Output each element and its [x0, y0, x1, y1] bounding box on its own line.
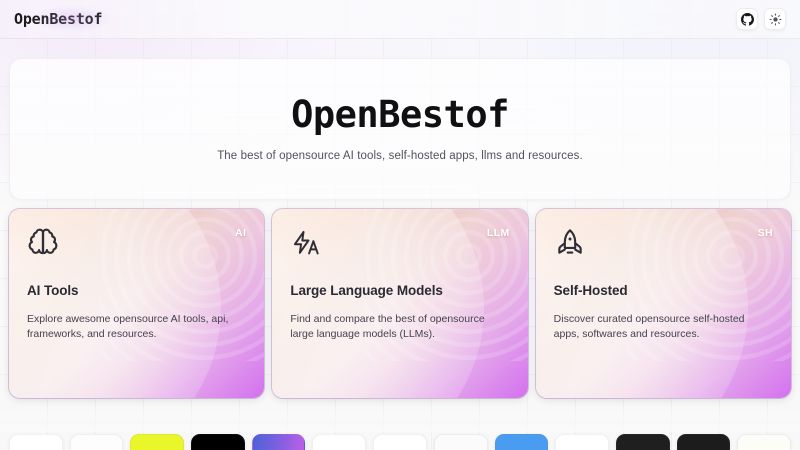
site-header: OpenBestof	[0, 0, 800, 39]
status-badge: LLM	[487, 227, 510, 239]
logo-tile[interactable]	[434, 434, 488, 450]
logo-tile[interactable]	[191, 434, 245, 450]
status-badge: AI	[235, 227, 246, 239]
logo-tile[interactable]	[495, 434, 549, 450]
hero-section: OpenBestof The best of opensource AI too…	[0, 39, 800, 200]
card-description: Find and compare the best of opensource …	[290, 312, 495, 342]
page-root: OpenBestof OpenBestof	[0, 0, 800, 450]
zap-a-icon	[290, 227, 509, 259]
category-cards: AI AI Tools Explore awesome opensource A…	[0, 200, 800, 398]
logo-strip	[0, 434, 800, 450]
hero-card: OpenBestof The best of opensource AI too…	[9, 58, 791, 200]
card-description: Discover curated opensource self-hosted …	[554, 312, 759, 342]
theme-toggle-button[interactable]	[764, 8, 786, 30]
brain-icon	[27, 227, 246, 259]
rocket-icon	[554, 227, 773, 259]
logo-tile[interactable]	[373, 434, 427, 450]
logo-tile[interactable]	[737, 434, 791, 450]
brand-logo[interactable]: OpenBestof	[12, 8, 108, 30]
card-title: Self-Hosted	[554, 283, 773, 298]
category-card-self-hosted[interactable]: SH Self-Hosted Discover curated opensour…	[536, 209, 791, 398]
logo-tile[interactable]	[252, 434, 306, 450]
logo-tile[interactable]	[555, 434, 609, 450]
card-description: Explore awesome opensource AI tools, api…	[27, 312, 232, 342]
logo-tile[interactable]	[9, 434, 63, 450]
header-actions	[736, 8, 786, 30]
github-icon	[741, 13, 754, 26]
logo-tile[interactable]	[130, 434, 184, 450]
status-badge: SH	[758, 227, 773, 239]
page-title: OpenBestof	[291, 96, 509, 135]
page-subtitle: The best of opensource AI tools, self-ho…	[217, 150, 583, 162]
sun-icon	[769, 13, 782, 26]
card-title: Large Language Models	[290, 283, 509, 298]
category-card-ai-tools[interactable]: AI AI Tools Explore awesome opensource A…	[9, 209, 264, 398]
strip-fade	[0, 406, 800, 432]
card-title: AI Tools	[27, 283, 246, 298]
logo-tile[interactable]	[312, 434, 366, 450]
logo-tile[interactable]	[616, 434, 670, 450]
github-link[interactable]	[736, 8, 758, 30]
category-card-llm[interactable]: LLM Large Language Models Find and compa…	[272, 209, 527, 398]
logo-tile[interactable]	[677, 434, 731, 450]
logo-tile[interactable]	[70, 434, 124, 450]
